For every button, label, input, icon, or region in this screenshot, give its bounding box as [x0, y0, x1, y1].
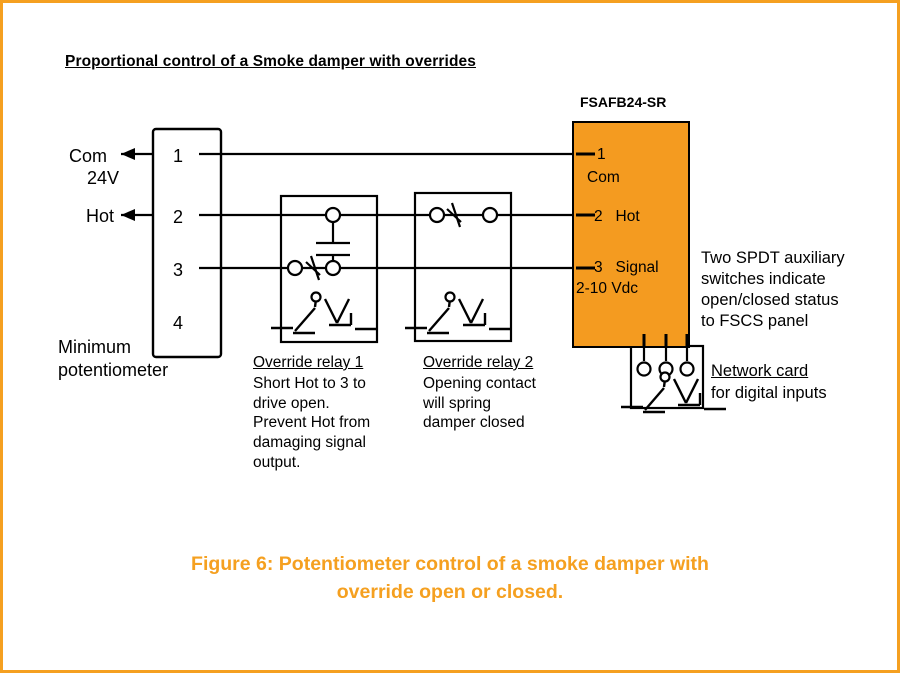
relay1-node-left	[288, 261, 302, 275]
supply-com-label: Com	[69, 146, 107, 167]
pot-pin-2: 2	[173, 207, 183, 227]
relay2-node-right	[483, 208, 497, 222]
figure-caption: Figure 6: Potentiometer control of a smo…	[3, 550, 897, 607]
network-card-pivot-left	[661, 373, 670, 382]
spdt-note: Two SPDT auxiliary switches indicate ope…	[701, 248, 845, 332]
relay2-pivot	[446, 293, 455, 302]
supply-arrows	[121, 148, 135, 221]
network-card-terminal-3	[681, 363, 694, 376]
pot-pin-1: 1	[173, 146, 183, 166]
relay1-coil-symbol	[271, 299, 377, 333]
relay2-coil-symbol	[405, 299, 511, 333]
supply-voltage-label: 24V	[87, 168, 119, 189]
supply-hot-label: Hot	[86, 206, 114, 227]
actuator-terminal-2-label: 2 Hot	[594, 208, 640, 226]
relay1-node-row3	[326, 261, 340, 275]
pot-pin-3: 3	[173, 260, 183, 280]
network-card-heading: Network card	[711, 362, 808, 381]
override-relay-1-heading: Override relay 1	[253, 354, 363, 372]
diagram-page: Proportional control of a Smoke damper w…	[0, 0, 900, 673]
override-relay-1-description: Short Hot to 3 to drive open. Prevent Ho…	[253, 374, 370, 472]
actuator-terminal-3-label: 3 Signal	[594, 259, 659, 277]
relay1-node-row2	[326, 208, 340, 222]
network-card-description: for digital inputs	[711, 384, 827, 403]
actuator-signal-range-label: 2-10 Vdc	[576, 280, 638, 298]
pot-pin-4: 4	[173, 313, 183, 333]
actuator-block	[572, 121, 690, 348]
hot-arrow-icon	[121, 209, 135, 221]
override-relay-2-description: Opening contact will spring damper close…	[423, 374, 536, 433]
potentiometer-block	[153, 129, 221, 357]
relay1-pivot	[312, 293, 321, 302]
potentiometer-label: Minimum potentiometer	[58, 336, 168, 382]
actuator-terminal-1-label: Com	[587, 169, 620, 187]
com-arrow-icon	[121, 148, 135, 160]
override-relay-2-heading: Override relay 2	[423, 354, 533, 372]
actuator-model-label: FSAFB24-SR	[580, 94, 666, 111]
relay2-node-left	[430, 208, 444, 222]
network-card-terminal-1	[638, 363, 651, 376]
actuator-terminal-1-number: 1	[597, 146, 606, 164]
